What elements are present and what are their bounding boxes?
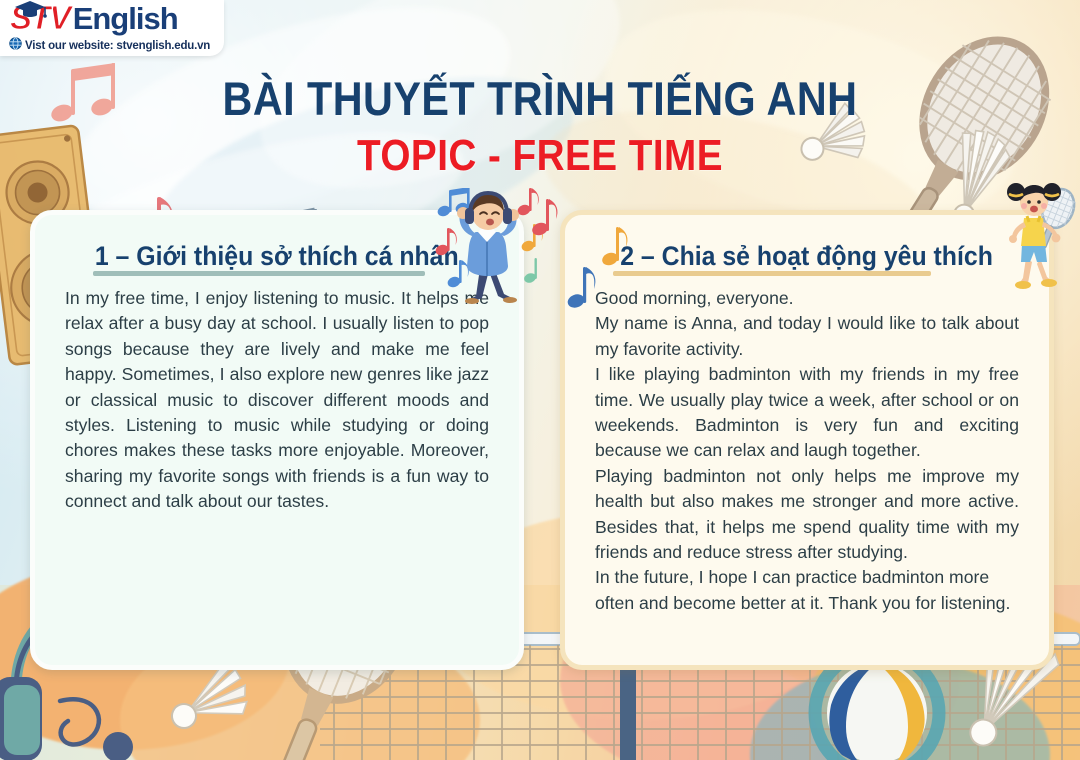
presentation-slide: STV English Vist our website: stvenglish… <box>0 0 1080 760</box>
girl-badminton-illustration <box>990 182 1080 299</box>
page-title: BÀI THUYẾT TRÌNH TIẾNG ANH <box>65 74 1015 125</box>
card-2-paragraph: Playing badminton not only helps me impr… <box>595 464 1019 566</box>
stv-english-logo[interactable]: STV English Vist our website: stvenglish… <box>0 0 224 56</box>
card-2-heading: 2 – Chia sẻ hoạt động yêu thích <box>618 241 996 272</box>
card-2-paragraph: Good morning, everyone. <box>595 286 1019 311</box>
logo-website-text: Vist our website: stvenglish.edu.vn <box>25 40 210 52</box>
card-2-paragraph: I like playing badminton with my friends… <box>595 362 1019 464</box>
card-1-paragraph: In my free time, I enjoy listening to mu… <box>65 286 489 515</box>
logo-brand-secondary: English <box>73 3 178 34</box>
page-subtitle: TOPIC - FREE TIME <box>65 132 1015 180</box>
globe-icon <box>9 37 22 55</box>
graduation-cap-icon <box>13 0 47 23</box>
card-1-heading: 1 – Giới thiệu sở thích cá nhân <box>92 241 461 272</box>
music-notes-decoration <box>528 195 638 330</box>
card-2-paragraph: In the future, I hope I can practice bad… <box>595 565 1019 616</box>
logo-wordmark: STV English <box>10 1 178 34</box>
logo-website-line[interactable]: Vist our website: stvenglish.edu.vn <box>9 37 210 55</box>
card-2-paragraph: My name is Anna, and today I would like … <box>595 311 1019 362</box>
slide-title-block: BÀI THUYẾT TRÌNH TIẾNG ANH TOPIC - FREE … <box>0 74 1080 179</box>
